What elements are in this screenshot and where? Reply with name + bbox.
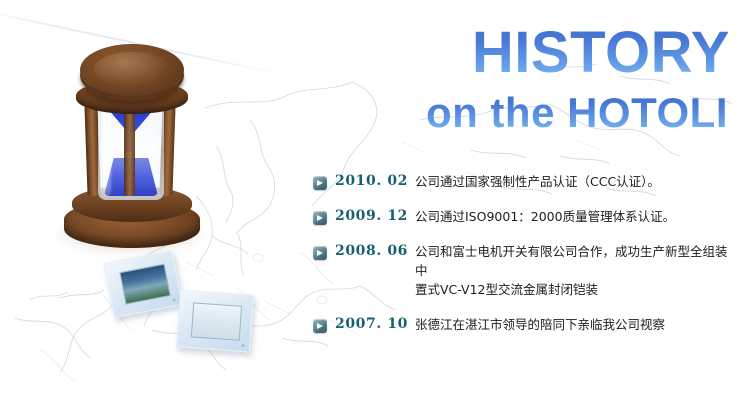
photo-slide-1-frame (119, 264, 170, 305)
photo-slide-1 (103, 250, 182, 318)
page-title: HISTORY on the HOTOLI (330, 24, 730, 134)
photo-slide-2-notch (241, 344, 244, 347)
timeline-entry-text: 公司和富士电机开关有限公司合作，成功生产新型全组装中 置式VC-V12型交流金属… (409, 242, 731, 299)
history-timeline-list: 2010. 02 公司通过国家强制性产品认证（CCC认证）。 2009. 12 … (313, 172, 731, 334)
photo-slide-2-frame (191, 302, 242, 340)
hourglass-post-middle (124, 106, 135, 196)
timeline-entry-date: 2009. 12 (335, 207, 409, 226)
title-line-subtitle: on the HOTOLI (330, 92, 730, 134)
hourglass-glass-highlight (102, 104, 111, 196)
timeline-entry-text-line1: 公司和富士电机开关有限公司合作，成功生产新型全组装中 (415, 244, 728, 278)
timeline-entry-date: 2007. 10 (335, 315, 409, 334)
timeline-entry-text: 张德江在湛江市领导的陪同下亲临我公司视察 (409, 315, 731, 334)
timeline-entry-text-line2: 置式VC-V12型交流金属封闭铠装 (415, 280, 731, 299)
photo-slide-2 (176, 289, 254, 352)
arrow-right-square-icon (313, 176, 327, 190)
timeline-entry-text-line1: 公司通过国家强制性产品认证（CCC认证）。 (415, 174, 660, 189)
timeline-entry-text-line1: 公司通过ISO9001：2000质量管理体系认证。 (415, 209, 675, 224)
arrow-right-square-icon (313, 319, 327, 333)
timeline-entry-text: 公司通过国家强制性产品认证（CCC认证）。 (409, 172, 731, 191)
arrow-right-square-icon (313, 211, 327, 225)
history-banner: HISTORY on the HOTOLI 2010. 02 公司通过国家强制性… (0, 0, 739, 406)
timeline-entry[interactable]: 2009. 12 公司通过ISO9001：2000质量管理体系认证。 (313, 207, 731, 226)
timeline-entry-text: 公司通过ISO9001：2000质量管理体系认证。 (409, 207, 731, 226)
arrow-right-square-icon (313, 246, 327, 260)
timeline-entry-text-line1: 张德江在湛江市领导的陪同下亲临我公司视察 (415, 317, 665, 332)
timeline-entry[interactable]: 2007. 10 张德江在湛江市领导的陪同下亲临我公司视察 (313, 315, 731, 334)
hourglass-top-cap (80, 44, 184, 96)
timeline-entry[interactable]: 2008. 06 公司和富士电机开关有限公司合作，成功生产新型全组装中 置式VC… (313, 242, 731, 299)
hourglass-image (46, 18, 214, 254)
photo-slide-1-notch (172, 298, 176, 302)
timeline-entry-date: 2010. 02 (335, 172, 409, 191)
title-line-history: HISTORY (330, 24, 730, 82)
timeline-entry-date: 2008. 06 (335, 242, 409, 261)
timeline-entry[interactable]: 2010. 02 公司通过国家强制性产品认证（CCC认证）。 (313, 172, 731, 191)
